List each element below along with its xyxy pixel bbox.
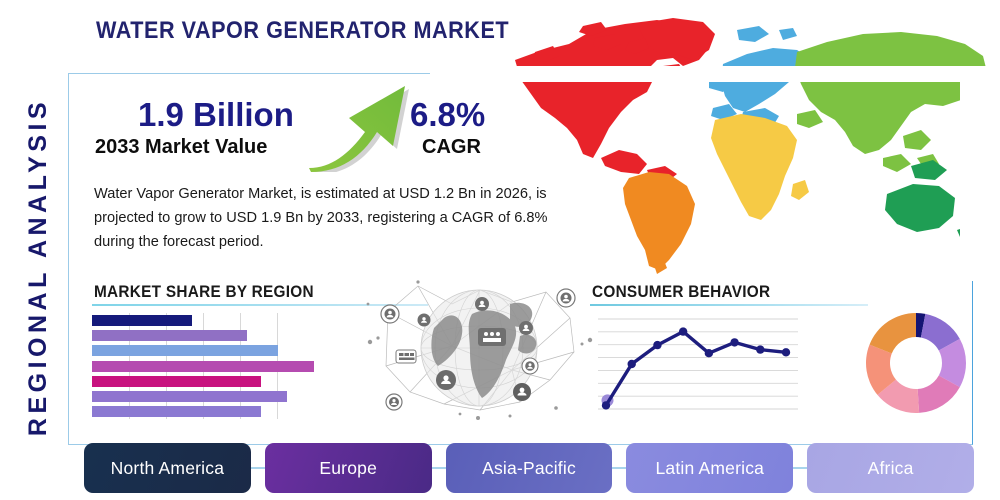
bar-chart-bar — [92, 361, 314, 372]
bar-chart-bar — [92, 345, 278, 356]
kpi-market-value: 1.9 Billion — [138, 96, 294, 134]
map-region-south-america — [623, 172, 695, 274]
bar-chart-bar — [92, 376, 261, 387]
region-connector — [251, 467, 265, 469]
region-chip-africa[interactable]: Africa — [807, 443, 974, 493]
line-chart-marker — [756, 345, 764, 353]
region-chip-north-america[interactable]: North America — [84, 443, 251, 493]
region-connector — [432, 467, 446, 469]
line-chart-consumer-behavior — [598, 311, 798, 419]
region-chip-europe[interactable]: Europe — [265, 443, 432, 493]
section-title-consumer-behavior: CONSUMER BEHAVIOR — [592, 283, 770, 302]
map-region-north-america — [515, 18, 715, 182]
infographic-root: REGIONAL ANALYSIS WATER VAPOR GENERATOR … — [0, 0, 1000, 500]
line-chart-svg — [598, 311, 798, 419]
bar-chart-bar — [92, 330, 247, 341]
region-chip-bar: North AmericaEuropeAsia-PacificLatin Ame… — [84, 443, 974, 493]
kpi-cagr-value: 6.8% — [410, 96, 485, 134]
kpi-cagr-label: CAGR — [422, 136, 481, 159]
world-map-icon — [497, 8, 997, 276]
line-chart-marker — [653, 341, 661, 349]
region-connector — [612, 467, 626, 469]
side-label-regional-analysis: REGIONAL ANALYSIS — [18, 77, 58, 457]
donut-chart-region-distribution — [864, 311, 968, 415]
map-region-asia — [795, 32, 987, 172]
page-title: WATER VAPOR GENERATOR MARKET — [96, 17, 509, 45]
region-chip-asia-pacific[interactable]: Asia-Pacific — [446, 443, 613, 493]
line-chart-marker — [602, 401, 610, 409]
bar-chart-bar — [92, 391, 287, 402]
bar-chart-bar — [92, 315, 192, 326]
growth-arrow-icon — [305, 82, 415, 172]
region-connector — [793, 467, 807, 469]
bar-chart-bar — [92, 406, 261, 417]
globe-network-icon — [360, 274, 598, 424]
bar-chart-market-share — [92, 313, 314, 419]
map-region-africa — [711, 114, 809, 220]
kpi-market-value-label: 2033 Market Value — [95, 136, 267, 159]
line-chart-series — [606, 332, 786, 406]
section-rule-consumer-behavior — [590, 304, 868, 306]
line-chart-marker — [730, 338, 738, 346]
line-chart-marker — [782, 348, 790, 356]
region-chip-latin-america[interactable]: Latin America — [626, 443, 793, 493]
line-chart-marker — [679, 327, 687, 335]
line-chart-marker — [628, 360, 636, 368]
section-title-market-share: MARKET SHARE BY REGION — [94, 283, 314, 302]
line-chart-marker — [705, 349, 713, 357]
